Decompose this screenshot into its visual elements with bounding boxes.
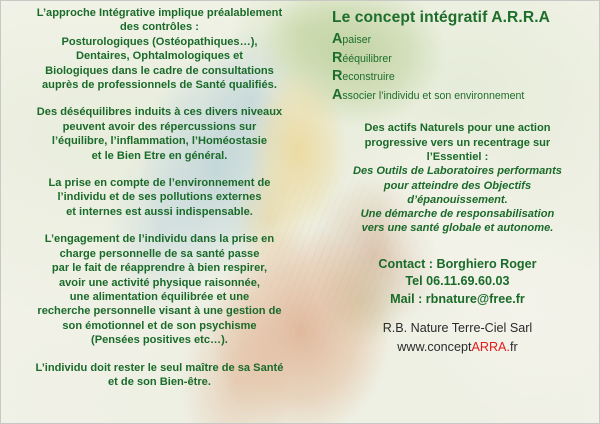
text-line: et de son Bien-être. (9, 375, 310, 389)
acronym-capital: A (332, 31, 342, 47)
text-line: d’épanouissement. (324, 193, 591, 207)
acronym-capital: A (332, 87, 342, 103)
text-line: avoir une activité physique raisonnée, (9, 276, 310, 290)
text-line: peuvent avoir des répercussions sur (9, 120, 310, 134)
text-line: Posturologiques (Ostéopathiques…), (9, 35, 310, 49)
acronym-rest: ééquilibrer (342, 53, 391, 65)
contact-name: Contact : Borghiero Roger (324, 256, 591, 273)
contact-phone[interactable]: Tel 06.11.69.60.03 (324, 273, 591, 290)
text-line: charge personnelle de sa santé passe (9, 247, 310, 261)
acronym-rest: econstruire (342, 71, 394, 83)
text-line: l’équilibre, l’inflammation, l’Homéostas… (9, 134, 310, 148)
text-line: Biologiques dans le cadre de consultatio… (9, 64, 310, 78)
text-line: Des Outils de Laboratoires performants (324, 164, 591, 178)
acronym-item-reequilibrer: Rééquilibrer (332, 50, 591, 69)
text-line: Des déséquilibres induits à ces divers n… (9, 105, 310, 119)
right-text-column: Le concept intégratif A.R.R.A Apaiser Ré… (318, 1, 599, 423)
acronym-item-apaiser: Apaiser (332, 31, 591, 50)
acronym-item-associer: Associer l’individu et son environnement (332, 87, 591, 106)
arra-acronym-list: Apaiser Rééquilibrer Reconstruire Associ… (332, 31, 591, 105)
text-line: une alimentation équilibrée et une (9, 290, 310, 304)
text-line: L’engagement de l’individu dans la prise… (9, 232, 310, 246)
text-line: des contrôles : (9, 20, 310, 34)
contact-email[interactable]: Mail : rbnature@free.fr (324, 291, 591, 308)
paragraph-environnement: La prise en compte de l’environnement de… (9, 176, 310, 219)
text-line: et internes est aussi indispensable. (9, 205, 310, 219)
paragraph-desequilibres: Des déséquilibres induits à ces divers n… (9, 105, 310, 163)
text-line: Dentaires, Ophtalmologiques et (9, 49, 310, 63)
acronym-item-reconstruire: Reconstruire (332, 68, 591, 87)
acronym-rest: ssocier l’individu et son environnement (342, 90, 524, 102)
acronym-capital: R (332, 50, 342, 66)
statement-italic: Des Outils de Laboratoires performants p… (324, 164, 591, 235)
statement-regular: Des actifs Naturels pour une action prog… (324, 121, 591, 164)
text-line: par le fait de réapprendre à bien respir… (9, 261, 310, 275)
text-line: progressive vers un recentrage sur (324, 136, 591, 150)
poster-content: L’approche Intégrative implique préalabl… (1, 1, 599, 423)
acronym-capital: R (332, 68, 342, 84)
text-line: l’individu et de ses pollutions externes (9, 190, 310, 204)
paragraph-engagement: L’engagement de l’individu dans la prise… (9, 232, 310, 347)
website-accent: ARRA (471, 340, 506, 354)
text-line: vers une santé globale et autonome. (324, 221, 591, 235)
poster-card: L’approche Intégrative implique préalabl… (0, 0, 600, 424)
text-line: auprès de professionnels de Santé qualif… (9, 78, 310, 92)
paragraph-maitre-sante: L’individu doit rester le seul maître de… (9, 361, 310, 390)
text-line: recherche personnelle visant à une gesti… (9, 304, 310, 318)
text-line: son émotionnel et de son psychisme (9, 319, 310, 333)
company-name: R.B. Nature Terre-Ciel Sarl (324, 319, 591, 338)
page-title: Le concept intégratif A.R.R.A (332, 9, 591, 27)
left-text-column: L’approche Intégrative implique préalabl… (1, 1, 318, 423)
text-line: L’individu doit rester le seul maître de… (9, 361, 310, 375)
paragraph-controles: L’approche Intégrative implique préalabl… (9, 6, 310, 92)
text-line: l’Essentiel : (324, 150, 591, 164)
contact-block: Contact : Borghiero Roger Tel 06.11.69.6… (324, 256, 591, 308)
text-line: Des actifs Naturels pour une action (324, 121, 591, 135)
company-block: R.B. Nature Terre-Ciel Sarl www.conceptA… (324, 319, 591, 356)
text-line: L’approche Intégrative implique préalabl… (9, 6, 310, 20)
acronym-rest: paiser (342, 34, 371, 46)
text-line: (Pensées positives etc…). (9, 333, 310, 347)
text-line: Une démarche de responsabilisation (324, 207, 591, 221)
text-line: et le Bien Etre en général. (9, 149, 310, 163)
text-line: La prise en compte de l’environnement de (9, 176, 310, 190)
website-prefix: www.concept (397, 340, 471, 354)
text-line: pour atteindre des Objectifs (324, 179, 591, 193)
website-suffix: fr (510, 340, 518, 354)
company-website[interactable]: www.conceptARRA.fr (324, 338, 591, 357)
